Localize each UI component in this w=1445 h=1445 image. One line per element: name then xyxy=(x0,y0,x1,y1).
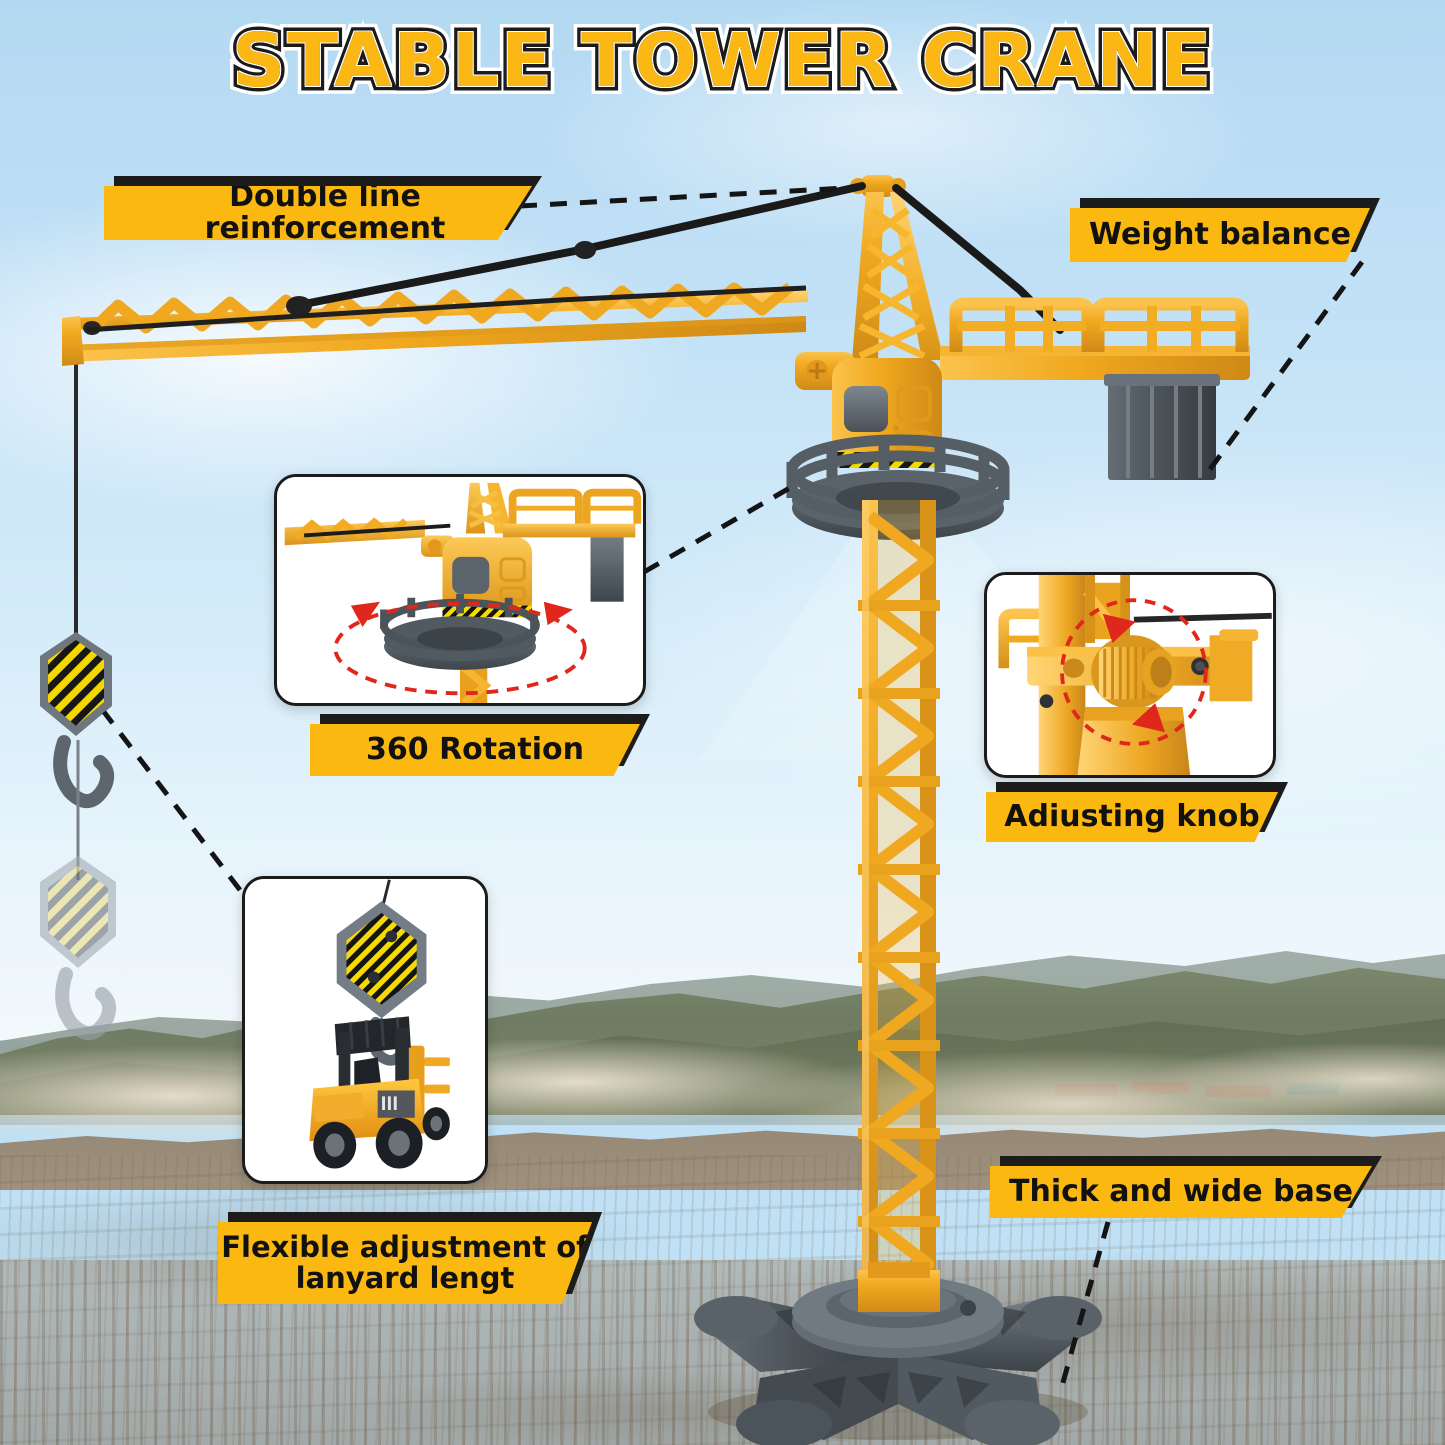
leader-thick-base xyxy=(1062,1222,1108,1386)
leader-360-rotation xyxy=(644,482,800,572)
leader-double-line xyxy=(520,188,846,206)
leader-lanyard xyxy=(104,712,240,890)
banner-thick-and-wide-base[interactable]: Thick and wide base xyxy=(990,1166,1372,1218)
banner-flexible-adjustment[interactable]: Flexible adjustment of lanyard lengt xyxy=(218,1222,592,1304)
leader-weight-balance xyxy=(1208,262,1362,472)
infographic-stage: STABLE TOWER CRANE STABLE TOWER CRANE ST… xyxy=(0,0,1445,1445)
banner-double-line-reinforcement[interactable]: Double line reinforcement xyxy=(104,186,532,240)
banner-thick-base-label: Thick and wide base xyxy=(1009,1176,1353,1208)
banner-360-rotation[interactable]: 360 Rotation xyxy=(310,724,640,776)
banner-adjusting-knob[interactable]: Adiusting knob xyxy=(986,792,1278,842)
banner-weight-balance[interactable]: Weight balance xyxy=(1070,208,1370,262)
banner-adjusting-knob-label: Adiusting knob xyxy=(1004,801,1259,833)
banner-double-line-label: Double line reinforcement xyxy=(118,181,532,246)
banner-weight-balance-label: Weight balance xyxy=(1089,219,1351,251)
banner-360-rotation-label: 360 Rotation xyxy=(366,734,584,766)
banner-flexible-adjustment-label: Flexible adjustment of lanyard lengt xyxy=(221,1232,589,1295)
